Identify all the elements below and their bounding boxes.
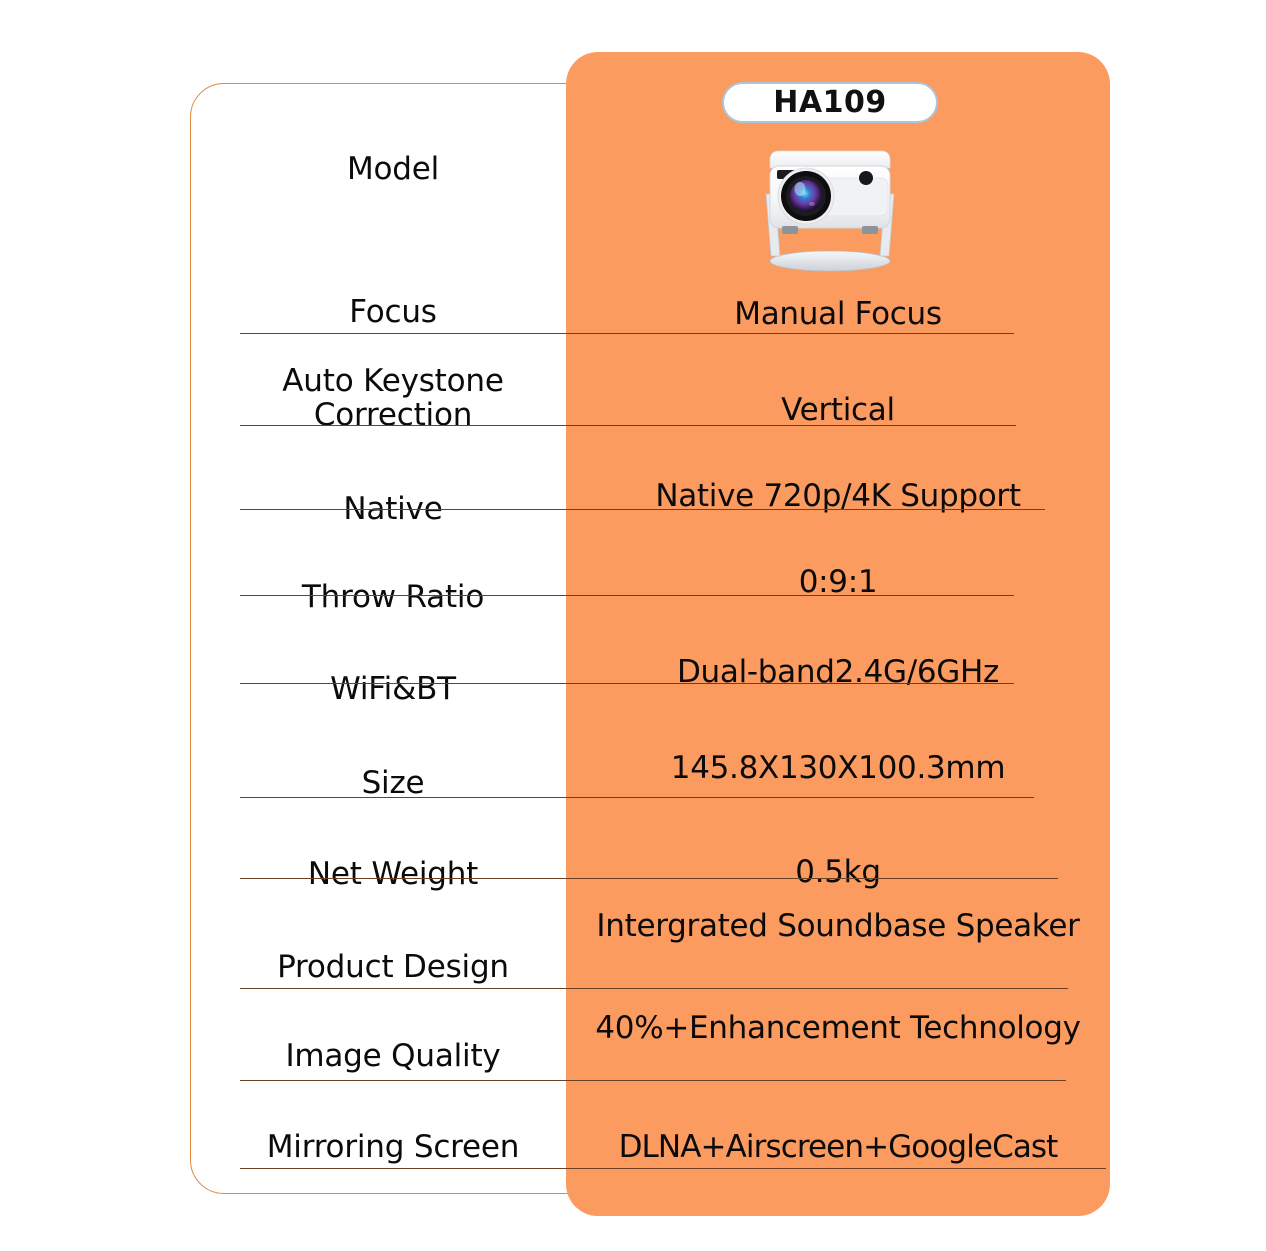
model-badge-label: HA109 xyxy=(773,88,886,118)
row-label-size: Size xyxy=(228,766,558,800)
row-value-image-quality: 40%+Enhancement Technology xyxy=(578,1011,1098,1046)
row-label-model: Model xyxy=(228,152,558,186)
row-label-net-weight: Net Weight xyxy=(228,857,558,891)
spec-comparison-card: HA109 xyxy=(0,0,1266,1251)
row-value-wifi-bt: Dual-band2.4G/6GHz xyxy=(578,655,1098,690)
row-divider-product-design xyxy=(240,988,1068,989)
row-divider-net-weight xyxy=(240,878,1058,879)
row-divider-focus xyxy=(240,333,1014,334)
row-label-wifi-bt: WiFi&BT xyxy=(228,672,558,706)
row-divider-throw-ratio xyxy=(240,595,1014,596)
row-divider-mirroring-screen xyxy=(240,1168,1106,1169)
row-label-product-design: Product Design xyxy=(228,950,558,984)
row-divider-auto-keystone-correction xyxy=(240,425,1016,426)
row-value-product-design: Intergrated Soundbase Speaker xyxy=(578,909,1098,944)
row-value-auto-keystone-correction: Vertical xyxy=(578,393,1098,428)
model-badge: HA109 xyxy=(722,82,938,123)
projector-icon xyxy=(742,136,918,276)
row-value-mirroring-screen: DLNA+Airscreen+GoogleCast xyxy=(578,1130,1098,1165)
row-label-throw-ratio: Throw Ratio xyxy=(228,580,558,614)
row-value-net-weight: 0.5kg xyxy=(578,855,1098,890)
row-label-image-quality: Image Quality xyxy=(228,1039,558,1073)
row-divider-image-quality xyxy=(240,1080,1066,1081)
row-value-focus: Manual Focus xyxy=(578,297,1098,332)
row-divider-size xyxy=(240,797,1034,798)
row-label-mirroring-screen: Mirroring Screen xyxy=(228,1130,558,1164)
row-label-focus: Focus xyxy=(228,295,558,329)
row-value-size: 145.8X130X100.3mm xyxy=(578,751,1098,786)
row-divider-native xyxy=(240,509,1045,510)
row-divider-wifi-bt xyxy=(240,683,1014,684)
row-label-auto-keystone-correction: Auto Keystone Correction xyxy=(228,364,558,432)
